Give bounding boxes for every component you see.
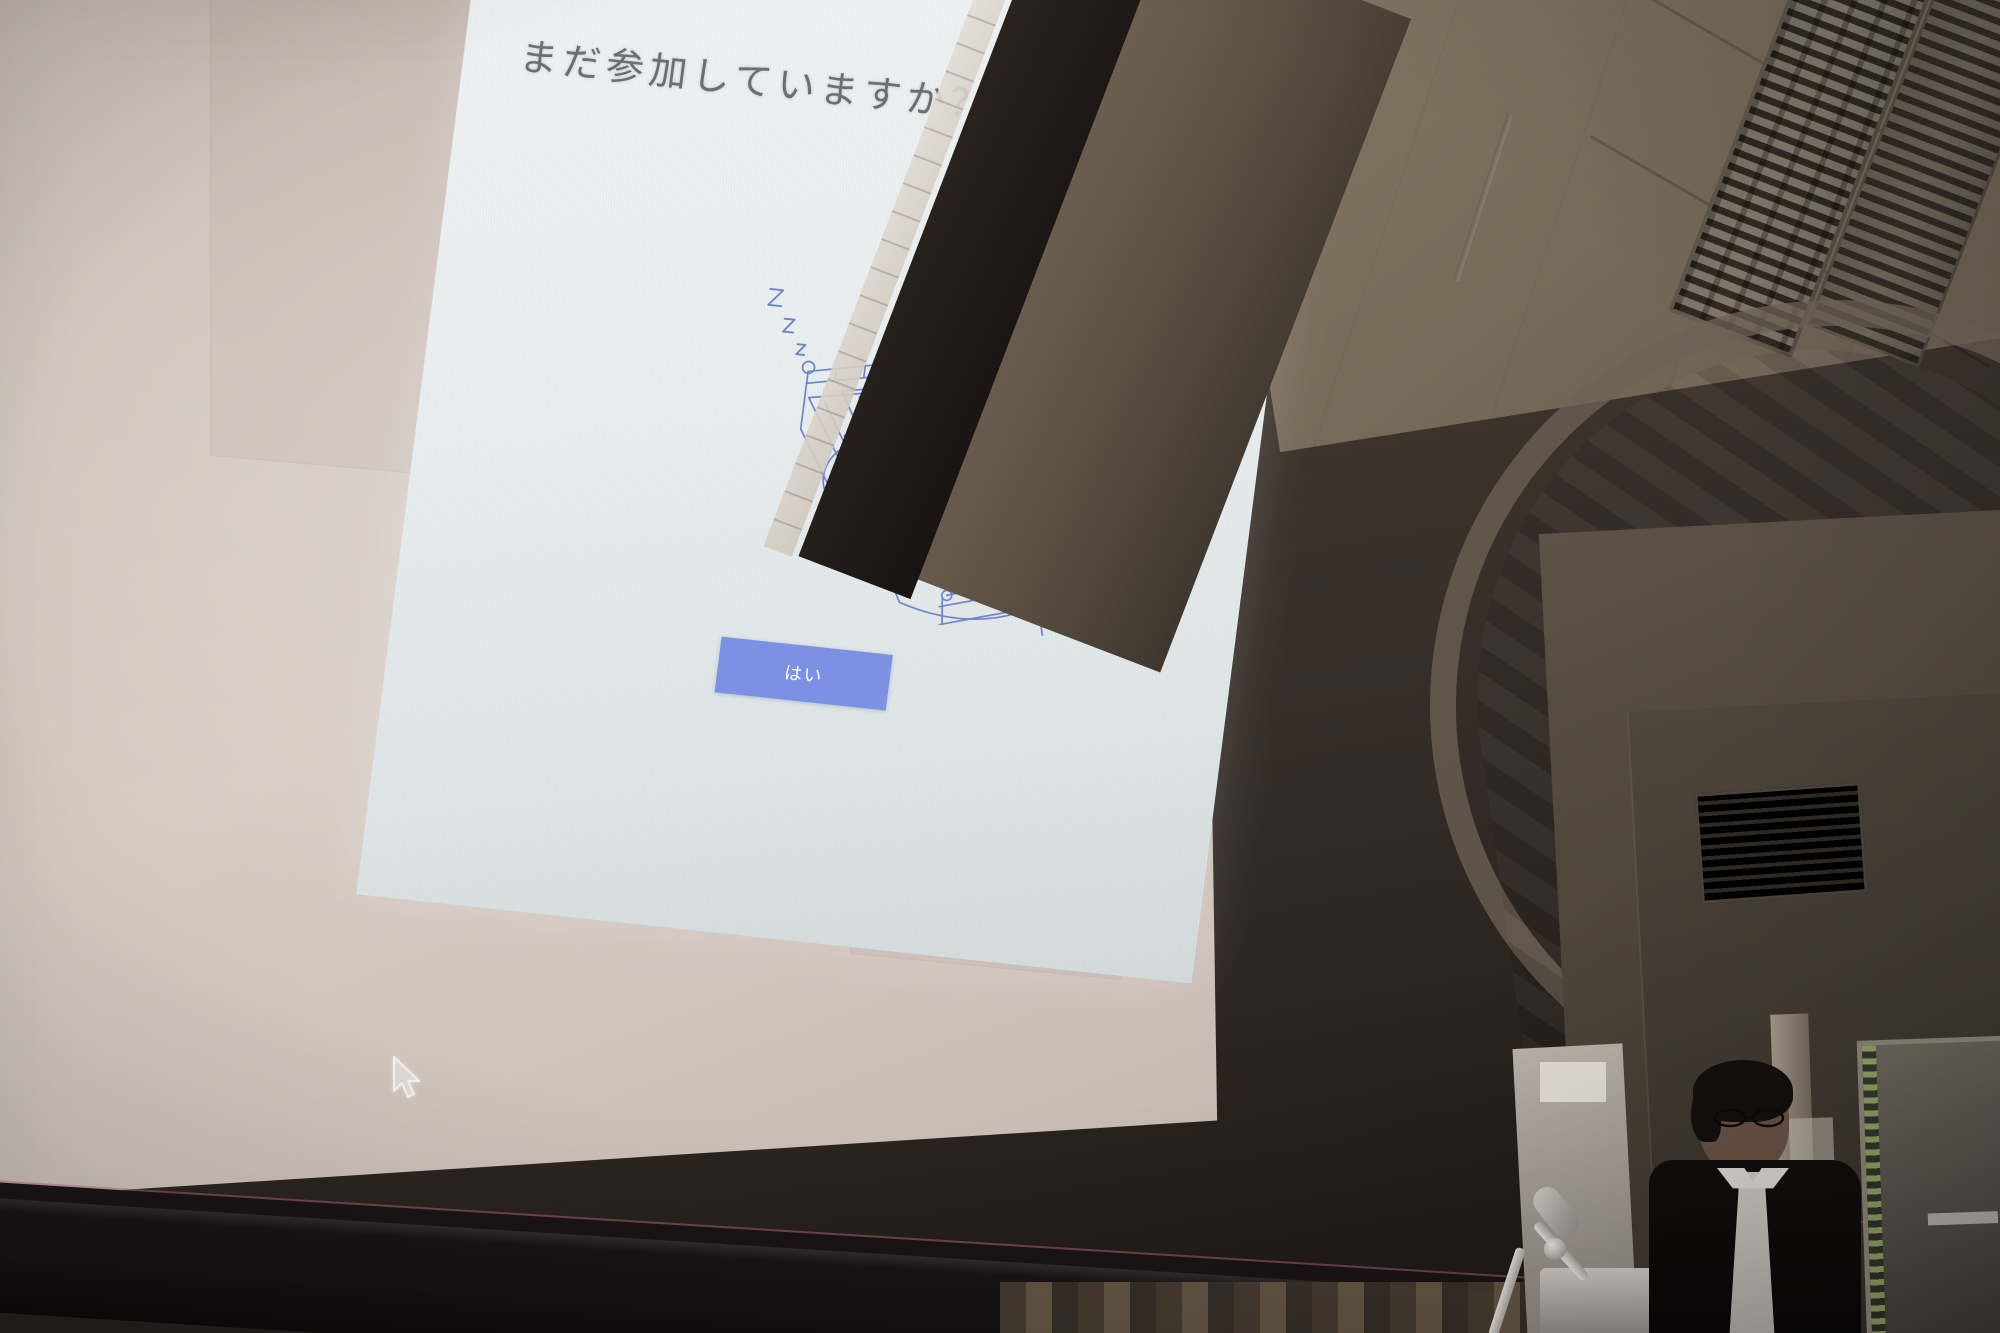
mouse-pointer-icon[interactable] [390, 1055, 424, 1101]
screenshot-root: まだ参加していますか？ [0, 0, 2000, 1333]
microphone-joint [1544, 1238, 1566, 1260]
eyeglasses-svg [1713, 1108, 1787, 1128]
eyeglasses-icon [1713, 1108, 1787, 1128]
confidence-monitor [1857, 1035, 2000, 1333]
lectern-plaque [1540, 1062, 1606, 1102]
zzz-marks-icon [762, 289, 812, 355]
cursor-arrow-svg [390, 1055, 424, 1101]
louver-air-vent-icon [1694, 782, 1867, 903]
yes-button[interactable]: はい [715, 637, 893, 711]
slide-title: まだ参加していますか？ [517, 25, 997, 130]
stage-curtain [1000, 1282, 1560, 1333]
presenter [1655, 1060, 1855, 1333]
